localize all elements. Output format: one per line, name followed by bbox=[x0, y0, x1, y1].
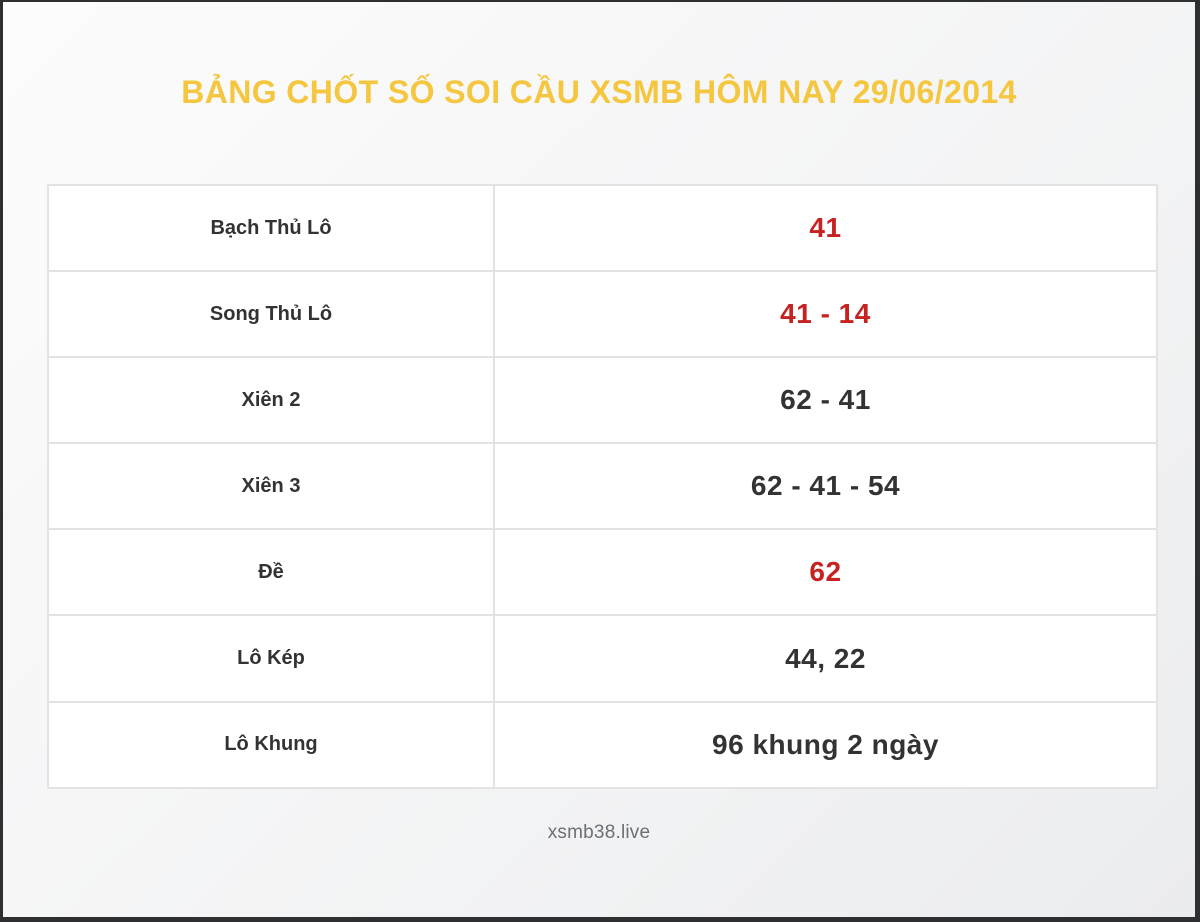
table-row: Lô Kép 44, 22 bbox=[48, 615, 1157, 701]
footer: xsmb38.live bbox=[3, 822, 1195, 844]
row-value-bach-thu-lo: 41 bbox=[494, 185, 1157, 271]
row-value-lo-khung: 96 khung 2 ngày bbox=[494, 702, 1157, 788]
title-bar: BẢNG CHỐT SỐ SOI CẦU XSMB HÔM NAY 29/06/… bbox=[3, 2, 1195, 184]
lottery-prediction-table: Bạch Thủ Lô 41 Song Thủ Lô 41 - 14 Xiên … bbox=[47, 184, 1158, 789]
table-row: Xiên 3 62 - 41 - 54 bbox=[48, 443, 1157, 529]
table-row: Bạch Thủ Lô 41 bbox=[48, 185, 1157, 271]
row-label-xien-3: Xiên 3 bbox=[48, 443, 494, 529]
row-value-de: 62 bbox=[494, 529, 1157, 615]
row-value-lo-kep: 44, 22 bbox=[494, 615, 1157, 701]
site-watermark: xsmb38.live bbox=[548, 822, 651, 843]
row-label-de: Đề bbox=[48, 529, 494, 615]
row-label-bach-thu-lo: Bạch Thủ Lô bbox=[48, 185, 494, 271]
row-value-xien-2: 62 - 41 bbox=[494, 357, 1157, 443]
table-body: Bạch Thủ Lô 41 Song Thủ Lô 41 - 14 Xiên … bbox=[48, 185, 1157, 788]
row-label-lo-kep: Lô Kép bbox=[48, 615, 494, 701]
table-row: Song Thủ Lô 41 - 14 bbox=[48, 271, 1157, 357]
page-container: BẢNG CHỐT SỐ SOI CẦU XSMB HÔM NAY 29/06/… bbox=[0, 0, 1200, 922]
page-title: BẢNG CHỐT SỐ SOI CẦU XSMB HÔM NAY 29/06/… bbox=[181, 75, 1017, 110]
row-label-song-thu-lo: Song Thủ Lô bbox=[48, 271, 494, 357]
row-label-xien-2: Xiên 2 bbox=[48, 357, 494, 443]
table-row: Lô Khung 96 khung 2 ngày bbox=[48, 702, 1157, 788]
table-row: Đề 62 bbox=[48, 529, 1157, 615]
row-value-song-thu-lo: 41 - 14 bbox=[494, 271, 1157, 357]
row-value-xien-3: 62 - 41 - 54 bbox=[494, 443, 1157, 529]
row-label-lo-khung: Lô Khung bbox=[48, 702, 494, 788]
table-row: Xiên 2 62 - 41 bbox=[48, 357, 1157, 443]
